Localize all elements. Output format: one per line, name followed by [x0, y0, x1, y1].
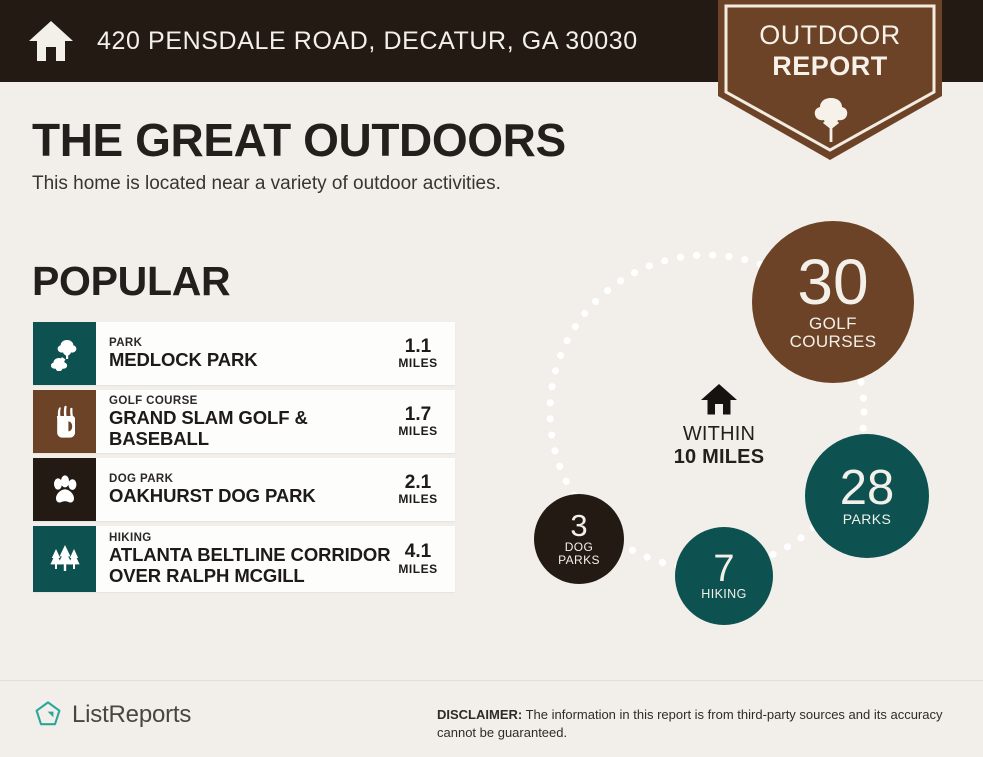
- golf-bag-icon: [49, 404, 81, 440]
- home-icon: [700, 383, 738, 416]
- popular-heading: POPULAR: [32, 258, 230, 305]
- list-item-distance-value: 1.7: [393, 405, 443, 425]
- list-item-distance: 1.1 MILES: [393, 337, 447, 371]
- list-item[interactable]: HIKING ATLANTA BELTLINE CORRIDOR OVER RA…: [33, 526, 455, 592]
- stat-bubble-hiking[interactable]: 7 HIKING: [675, 527, 773, 625]
- list-item-category: GOLF COURSE: [109, 394, 393, 408]
- list-item-icon-tile: [33, 390, 96, 453]
- list-item-distance-unit: MILES: [393, 424, 443, 438]
- list-item-body: DOG PARK OAKHURST DOG PARK 2.1 MILES: [96, 458, 455, 521]
- footer-divider: [0, 680, 983, 681]
- pine-trees-icon: [47, 542, 83, 576]
- list-item-icon-tile: [33, 526, 96, 592]
- list-item-name: ATLANTA BELTLINE CORRIDOR OVER RALPH MCG…: [109, 545, 393, 586]
- list-item-text: HIKING ATLANTA BELTLINE CORRIDOR OVER RA…: [109, 531, 393, 587]
- list-item-name: OAKHURST DOG PARK: [109, 486, 393, 507]
- paw-print-icon: [48, 473, 82, 507]
- listreports-logo-text: ListReports: [72, 701, 191, 729]
- outdoor-report-banner: OUTDOOR REPORT: [718, 0, 942, 160]
- tree-icon: [813, 97, 849, 143]
- within-line1: WITHIN: [649, 423, 789, 446]
- stat-bubble-dog-parks[interactable]: 3 DOG PARKS: [534, 494, 624, 584]
- list-item-category: PARK: [109, 336, 393, 350]
- home-icon: [27, 19, 75, 63]
- list-item-distance-value: 1.1: [393, 337, 443, 357]
- stat-bubble-parks[interactable]: 28 PARKS: [805, 434, 929, 558]
- popular-list: PARK MEDLOCK PARK 1.1 MILES GOLF COURSE …: [33, 322, 455, 597]
- stat-value: 3: [570, 511, 587, 540]
- list-item-distance: 1.7 MILES: [393, 405, 447, 439]
- list-item-category: HIKING: [109, 531, 393, 545]
- list-item-text: PARK MEDLOCK PARK: [109, 336, 393, 371]
- page-subtitle: This home is located near a variety of o…: [32, 173, 501, 195]
- list-item-text: GOLF COURSE GRAND SLAM GOLF & BASEBALL: [109, 394, 393, 450]
- list-item-distance-value: 4.1: [393, 542, 443, 562]
- park-trees-icon: [48, 337, 82, 371]
- stat-label: DOG PARKS: [558, 541, 600, 567]
- listreports-logo[interactable]: ListReports: [33, 700, 191, 730]
- list-item-distance: 2.1 MILES: [393, 473, 447, 507]
- within-10-miles-cluster: WITHIN 10 MILES 30 GOLF COURSES 28 PARKS…: [520, 205, 983, 665]
- listreports-pentagon-icon: [33, 700, 63, 730]
- list-item-body: PARK MEDLOCK PARK 1.1 MILES: [96, 322, 455, 385]
- stat-value: 28: [840, 465, 895, 512]
- list-item-distance-unit: MILES: [393, 562, 443, 576]
- list-item[interactable]: PARK MEDLOCK PARK 1.1 MILES: [33, 322, 455, 385]
- disclaimer: DISCLAIMER: The information in this repo…: [437, 706, 957, 743]
- property-address: 420 PENSDALE ROAD, DECATUR, GA 30030: [97, 27, 638, 56]
- within-center-label: WITHIN 10 MILES: [649, 383, 789, 469]
- list-item[interactable]: GOLF COURSE GRAND SLAM GOLF & BASEBALL 1…: [33, 390, 455, 453]
- list-item-name: MEDLOCK PARK: [109, 350, 393, 371]
- stat-value: 7: [713, 551, 734, 587]
- disclaimer-label: DISCLAIMER:: [437, 707, 522, 722]
- list-item[interactable]: DOG PARK OAKHURST DOG PARK 2.1 MILES: [33, 458, 455, 521]
- page-title: THE GREAT OUTDOORS: [32, 113, 566, 167]
- stat-bubble-golf-courses[interactable]: 30 GOLF COURSES: [752, 221, 914, 383]
- list-item-category: DOG PARK: [109, 472, 393, 486]
- list-item-distance-unit: MILES: [393, 356, 443, 370]
- list-item-body: GOLF COURSE GRAND SLAM GOLF & BASEBALL 1…: [96, 390, 455, 453]
- list-item-body: HIKING ATLANTA BELTLINE CORRIDOR OVER RA…: [96, 526, 455, 592]
- within-line2: 10 MILES: [649, 446, 789, 469]
- list-item-distance-unit: MILES: [393, 492, 443, 506]
- list-item-text: DOG PARK OAKHURST DOG PARK: [109, 472, 393, 507]
- list-item-distance-value: 2.1: [393, 473, 443, 493]
- stat-label: PARKS: [843, 512, 891, 527]
- stat-label: HIKING: [701, 588, 746, 602]
- stat-label: GOLF COURSES: [790, 315, 877, 352]
- list-item-distance: 4.1 MILES: [393, 542, 447, 576]
- stat-value: 30: [797, 252, 868, 313]
- list-item-name: GRAND SLAM GOLF & BASEBALL: [109, 408, 393, 449]
- list-item-icon-tile: [33, 458, 96, 521]
- list-item-icon-tile: [33, 322, 96, 385]
